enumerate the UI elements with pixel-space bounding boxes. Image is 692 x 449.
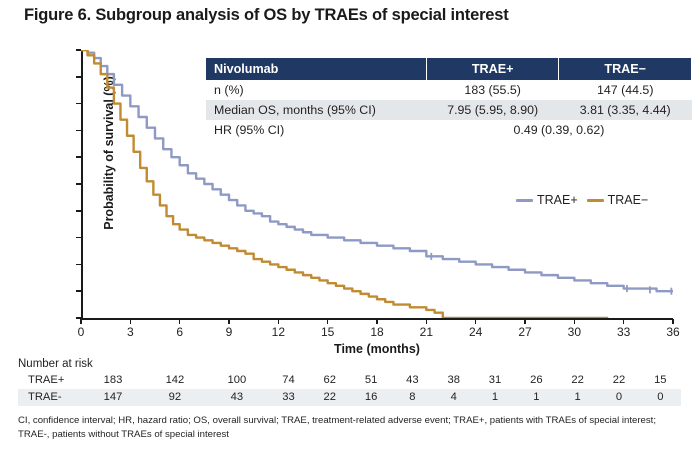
y-axis-tick bbox=[76, 290, 81, 292]
number-at-risk-value: 22 bbox=[309, 389, 350, 406]
number-at-risk-value: 8 bbox=[392, 389, 433, 406]
x-axis-tick-label: 24 bbox=[461, 326, 491, 338]
stats-header-trae-negative: TRAE− bbox=[559, 58, 692, 80]
number-at-risk-value: 147 bbox=[82, 389, 144, 406]
legend-swatch-icon bbox=[587, 199, 604, 202]
x-axis-tick-label: 9 bbox=[214, 326, 244, 338]
x-axis-tick-label: 27 bbox=[510, 326, 540, 338]
y-axis-tick bbox=[76, 49, 81, 51]
number-at-risk-value: 22 bbox=[557, 372, 598, 389]
table-row: n (%)183 (55.5)147 (44.5) bbox=[206, 80, 692, 100]
number-at-risk-value: 31 bbox=[474, 372, 515, 389]
number-at-risk-value: 142 bbox=[144, 372, 206, 389]
x-axis-tick-label: 33 bbox=[609, 326, 639, 338]
x-axis-tick bbox=[426, 319, 428, 324]
x-axis-tick-label: 12 bbox=[263, 326, 293, 338]
y-axis-tick bbox=[76, 130, 81, 132]
x-axis-tick bbox=[278, 319, 280, 324]
x-axis-tick bbox=[623, 319, 625, 324]
x-axis-tick-label: 15 bbox=[313, 326, 343, 338]
number-at-risk-value: 22 bbox=[598, 372, 639, 389]
number-at-risk-value: 4 bbox=[433, 389, 474, 406]
y-axis-tick bbox=[76, 103, 81, 105]
x-axis-tick bbox=[376, 319, 378, 324]
number-at-risk-value: 51 bbox=[350, 372, 391, 389]
footnote: CI, confidence interval; HR, hazard rati… bbox=[18, 414, 682, 442]
number-at-risk-value: 62 bbox=[309, 372, 350, 389]
x-axis-tick-label: 18 bbox=[362, 326, 392, 338]
stats-row-label: n (%) bbox=[206, 80, 426, 100]
stats-row-value-combined: 0.49 (0.39, 0.62) bbox=[426, 120, 691, 140]
stats-table-header-row: Nivolumab TRAE+ TRAE− bbox=[206, 58, 692, 80]
y-axis-tick bbox=[76, 237, 81, 239]
number-at-risk-value: 15 bbox=[640, 372, 681, 389]
stats-header-trae-positive: TRAE+ bbox=[426, 58, 559, 80]
number-at-risk-value: 0 bbox=[598, 389, 639, 406]
chart-legend: TRAE+TRAE− bbox=[516, 193, 648, 207]
number-at-risk-value: 92 bbox=[144, 389, 206, 406]
stats-row-value-trae-positive: 183 (55.5) bbox=[426, 80, 559, 100]
table-row: Median OS, months (95% CI)7.95 (5.95, 8.… bbox=[206, 100, 692, 120]
x-axis-tick bbox=[179, 319, 181, 324]
table-row: HR (95% CI)0.49 (0.39, 0.62) bbox=[206, 120, 692, 140]
y-axis-tick bbox=[76, 183, 81, 185]
number-at-risk-value: 100 bbox=[206, 372, 268, 389]
number-at-risk-title: Number at risk bbox=[18, 358, 93, 370]
page-title: Figure 6. Subgroup analysis of OS by TRA… bbox=[24, 6, 509, 25]
number-at-risk-value: 1 bbox=[474, 389, 515, 406]
x-axis-tick bbox=[130, 319, 132, 324]
legend-item: TRAE− bbox=[587, 193, 649, 207]
x-axis-tick bbox=[80, 319, 82, 324]
x-axis-tick bbox=[475, 319, 477, 324]
x-axis-tick bbox=[228, 319, 230, 324]
stats-row-value-trae-negative: 3.81 (3.35, 4.44) bbox=[559, 100, 692, 120]
number-at-risk-row-label: TRAE+ bbox=[18, 372, 82, 389]
stats-row-value-trae-negative: 147 (44.5) bbox=[559, 80, 692, 100]
number-at-risk-value: 43 bbox=[206, 389, 268, 406]
legend-item: TRAE+ bbox=[516, 193, 578, 207]
x-axis-tick-label: 36 bbox=[658, 326, 688, 338]
stats-header-group: Nivolumab bbox=[206, 58, 426, 80]
number-at-risk-value: 16 bbox=[350, 389, 391, 406]
number-at-risk-value: 183 bbox=[82, 372, 144, 389]
x-axis-tick bbox=[574, 319, 576, 324]
y-axis-tick bbox=[76, 156, 81, 158]
number-at-risk-value: 26 bbox=[516, 372, 557, 389]
number-at-risk-value: 43 bbox=[392, 372, 433, 389]
legend-swatch-icon bbox=[516, 199, 533, 202]
number-at-risk-value: 33 bbox=[268, 389, 309, 406]
number-at-risk-body: TRAE+18314210074625143383126222215TRAE-1… bbox=[18, 372, 681, 406]
stats-row-value-trae-positive: 7.95 (5.95, 8.90) bbox=[426, 100, 559, 120]
legend-label: TRAE+ bbox=[537, 193, 578, 207]
stats-table-body: n (%)183 (55.5)147 (44.5)Median OS, mont… bbox=[206, 80, 692, 140]
statistics-table: Nivolumab TRAE+ TRAE− n (%)183 (55.5)147… bbox=[206, 58, 692, 140]
x-axis-tick-label: 21 bbox=[411, 326, 441, 338]
legend-label: TRAE− bbox=[608, 193, 649, 207]
x-axis-tick-label: 3 bbox=[115, 326, 145, 338]
x-axis-tick bbox=[327, 319, 329, 324]
number-at-risk-table: TRAE+18314210074625143383126222215TRAE-1… bbox=[18, 372, 681, 406]
number-at-risk-value: 74 bbox=[268, 372, 309, 389]
number-at-risk-row-label: TRAE- bbox=[18, 389, 82, 406]
stats-row-label: HR (95% CI) bbox=[206, 120, 426, 140]
number-at-risk-row: TRAE+18314210074625143383126222215 bbox=[18, 372, 681, 389]
x-axis-title: Time (months) bbox=[81, 342, 673, 356]
y-axis-tick bbox=[76, 210, 81, 212]
number-at-risk-value: 1 bbox=[557, 389, 598, 406]
x-axis-tick bbox=[672, 319, 674, 324]
number-at-risk-value: 0 bbox=[640, 389, 681, 406]
number-at-risk-row: TRAE-14792433322168411100 bbox=[18, 389, 681, 406]
x-axis-tick bbox=[524, 319, 526, 324]
number-at-risk-value: 38 bbox=[433, 372, 474, 389]
number-at-risk-value: 1 bbox=[516, 389, 557, 406]
x-axis-tick-label: 0 bbox=[66, 326, 96, 338]
y-axis-tick bbox=[76, 76, 81, 78]
y-axis-tick bbox=[76, 264, 81, 266]
stats-row-label: Median OS, months (95% CI) bbox=[206, 100, 426, 120]
x-axis-tick-label: 30 bbox=[559, 326, 589, 338]
x-axis-tick-label: 6 bbox=[165, 326, 195, 338]
